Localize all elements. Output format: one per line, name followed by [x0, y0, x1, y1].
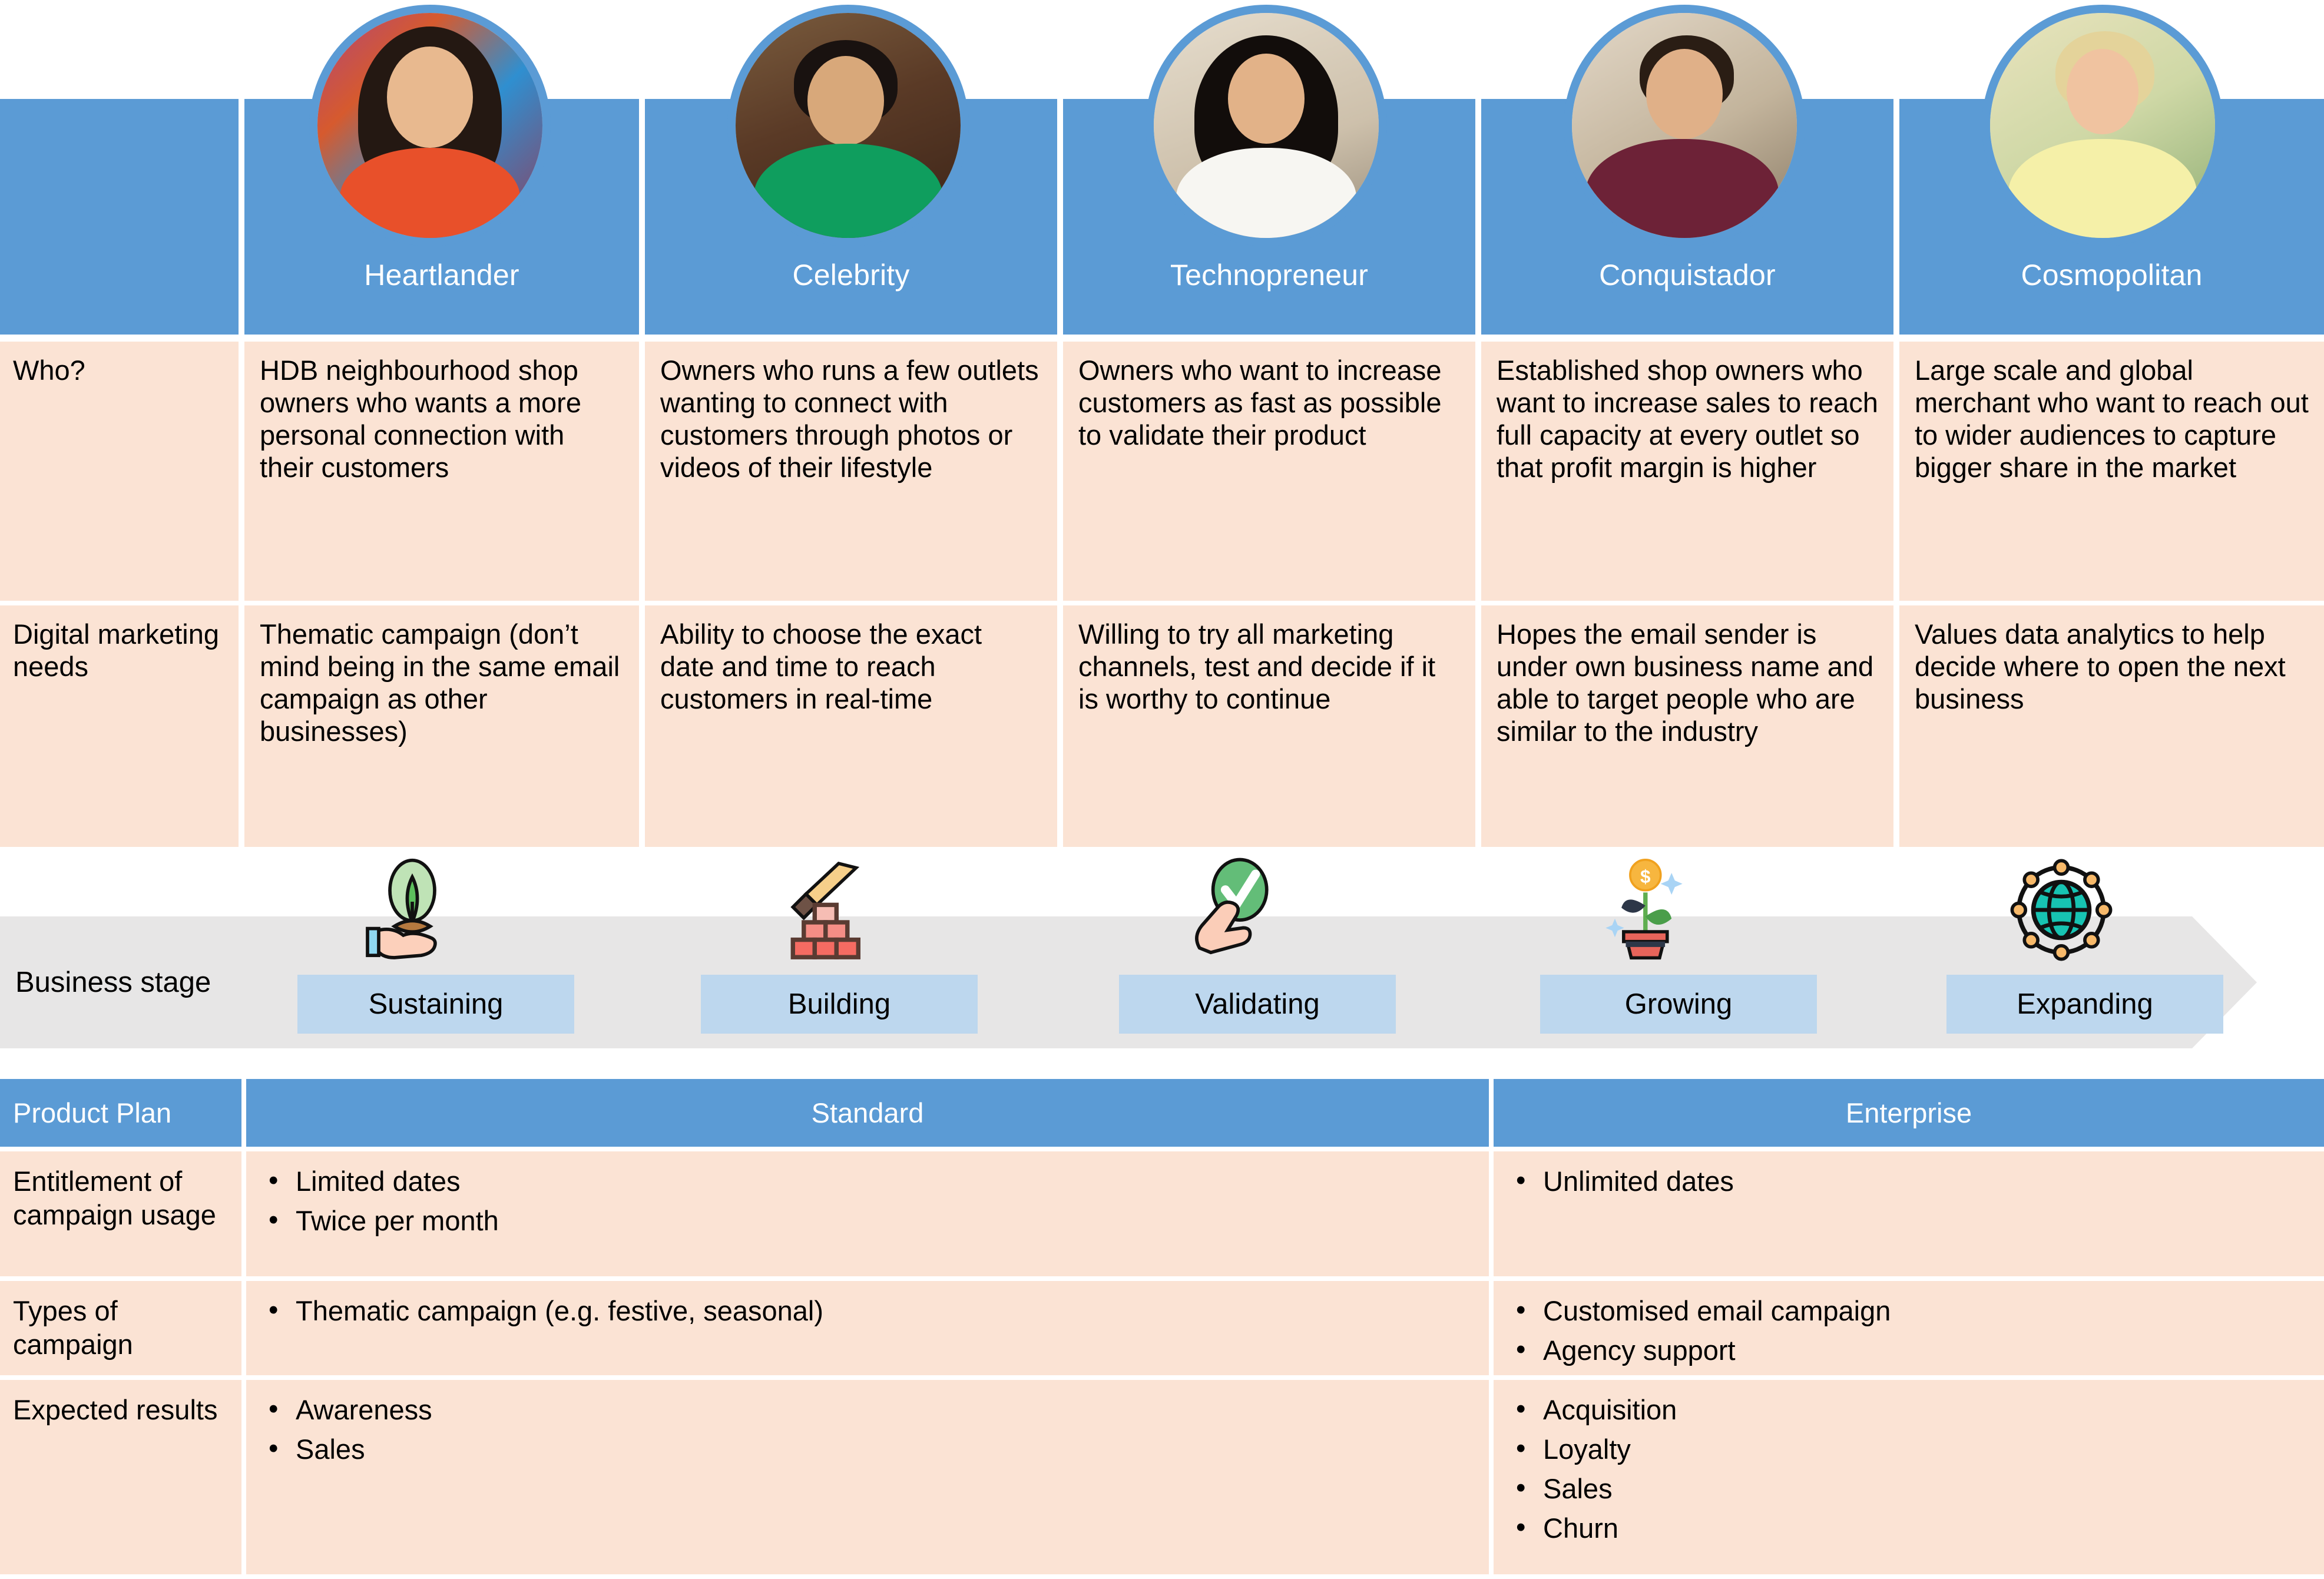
- stage-label-validating[interactable]: Validating: [1119, 975, 1396, 1034]
- money-plant-icon: $: [1593, 854, 1702, 966]
- row-label-text: Expected results: [13, 1394, 217, 1425]
- business-stage-title: Business stage: [0, 916, 236, 1048]
- product-plan-cell-enterprise-types: Customised email campaign Agency support: [1494, 1281, 2324, 1375]
- stage-label-text: Expanding: [2017, 988, 2153, 1021]
- who-cell-heartlander: HDB neighbourhood shop owners who wants …: [244, 342, 639, 601]
- product-plan-row-label-types: Types of campaign: [0, 1281, 241, 1375]
- needs-cell-heartlander: Thematic campaign (don’t mind being in t…: [244, 605, 639, 847]
- persona-name-label: Cosmopolitan: [2021, 258, 2202, 292]
- product-plan-header-standard: Standard: [246, 1079, 1489, 1147]
- needs-cell-cosmopolitan: Values data analytics to help decide whe…: [1899, 605, 2324, 847]
- column-header-label: Standard: [812, 1097, 924, 1129]
- row-label-text: Types of campaign: [13, 1295, 133, 1360]
- list-item: Loyalty: [1508, 1431, 2310, 1467]
- avatar-photo: [317, 13, 542, 238]
- avatar-photo: [1154, 13, 1379, 238]
- list-item: Sales: [1508, 1471, 2310, 1507]
- trowel-bricks-icon: [773, 857, 882, 966]
- product-plan-cell-enterprise-entitlement: Unlimited dates: [1494, 1151, 2324, 1276]
- persona-name-label: Heartlander: [364, 258, 519, 292]
- hand-checkmark-icon: [1175, 854, 1287, 966]
- product-plan-cell-standard-types: Thematic campaign (e.g. festive, seasona…: [246, 1281, 1489, 1375]
- row-label-who: Who?: [0, 342, 239, 601]
- product-plan-cell-enterprise-results: Acquisition Loyalty Sales Churn: [1494, 1380, 2324, 1574]
- needs-cell-celebrity: Ability to choose the exact date and tim…: [645, 605, 1057, 847]
- photo-avatar-technopreneur: [1146, 5, 1387, 246]
- stage-label-building[interactable]: Building: [701, 975, 978, 1034]
- photo-avatar-celebrity: [727, 5, 969, 246]
- product-plan-header-enterprise: Enterprise: [1494, 1079, 2324, 1147]
- column-header-label: Enterprise: [1846, 1097, 1972, 1129]
- persona-name-label: Technopreneur: [1170, 258, 1368, 292]
- persona-name-label: Conquistador: [1599, 258, 1776, 292]
- row-label-text: Who?: [13, 355, 85, 386]
- hand-seedling-icon: [356, 857, 468, 969]
- product-plan-row-label-entitlement: Entitlement of campaign usage: [0, 1151, 241, 1276]
- product-plan-row-label-results: Expected results: [0, 1380, 241, 1574]
- globe-network-icon: [2005, 854, 2117, 966]
- persona-header-left-blank: [0, 99, 239, 335]
- needs-cell-technopreneur: Willing to try all marketing channels, t…: [1063, 605, 1475, 847]
- bullet-list: Awareness Sales: [260, 1392, 1475, 1467]
- product-plan-cell-standard-results: Awareness Sales: [246, 1380, 1489, 1574]
- bullet-list: Thematic campaign (e.g. festive, seasona…: [260, 1293, 1475, 1329]
- photo-avatar-conquistador: [1564, 5, 1805, 246]
- list-item: Agency support: [1508, 1332, 2310, 1368]
- row-label-text: Entitlement of campaign usage: [13, 1166, 216, 1230]
- row-label-text: Digital marketing needs: [13, 618, 219, 682]
- stage-label-growing[interactable]: Growing: [1540, 975, 1817, 1034]
- stage-label-text: Validating: [1195, 988, 1320, 1021]
- stage-label-text: Growing: [1625, 988, 1732, 1021]
- persona-name-label: Celebrity: [792, 258, 909, 292]
- photo-avatar-cosmopolitan: [1982, 5, 2223, 246]
- bullet-list: Unlimited dates: [1508, 1163, 2310, 1199]
- list-item: Sales: [260, 1431, 1475, 1467]
- stage-label-sustaining[interactable]: Sustaining: [297, 975, 574, 1034]
- list-item: Acquisition: [1508, 1392, 2310, 1428]
- stage-label-text: Building: [788, 988, 890, 1021]
- avatar-photo: [1572, 13, 1797, 238]
- who-cell-celebrity: Owners who runs a few outlets wanting to…: [645, 342, 1057, 601]
- who-cell-conquistador: Established shop owners who want to incr…: [1481, 342, 1893, 601]
- stage-label-text: Sustaining: [369, 988, 504, 1021]
- product-plan-corner-label: Product Plan: [13, 1097, 171, 1129]
- needs-cell-conquistador: Hopes the email sender is under own busi…: [1481, 605, 1893, 847]
- list-item: Unlimited dates: [1508, 1163, 2310, 1199]
- product-plan-cell-standard-entitlement: Limited dates Twice per month: [246, 1151, 1489, 1276]
- list-item: Awareness: [260, 1392, 1475, 1428]
- avatar-photo: [736, 13, 961, 238]
- stage-label-expanding[interactable]: Expanding: [1946, 975, 2223, 1034]
- bullet-list: Customised email campaign Agency support: [1508, 1293, 2310, 1368]
- bullet-list: Limited dates Twice per month: [260, 1163, 1475, 1239]
- avatar-photo: [1990, 13, 2215, 238]
- list-item: Churn: [1508, 1510, 2310, 1546]
- svg-text:$: $: [1640, 866, 1651, 887]
- product-plan-corner-header: Product Plan: [0, 1079, 241, 1147]
- who-cell-technopreneur: Owners who want to increase customers as…: [1063, 342, 1475, 601]
- list-item: Twice per month: [260, 1203, 1475, 1239]
- who-cell-cosmopolitan: Large scale and global merchant who want…: [1899, 342, 2324, 601]
- list-item: Customised email campaign: [1508, 1293, 2310, 1329]
- list-item: Thematic campaign (e.g. festive, seasona…: [260, 1293, 1475, 1329]
- photo-avatar-heartlander: [309, 5, 551, 246]
- row-label-digital-marketing-needs: Digital marketing needs: [0, 605, 239, 847]
- business-stage-title-text: Business stage: [15, 966, 211, 999]
- list-item: Limited dates: [260, 1163, 1475, 1199]
- bullet-list: Acquisition Loyalty Sales Churn: [1508, 1392, 2310, 1546]
